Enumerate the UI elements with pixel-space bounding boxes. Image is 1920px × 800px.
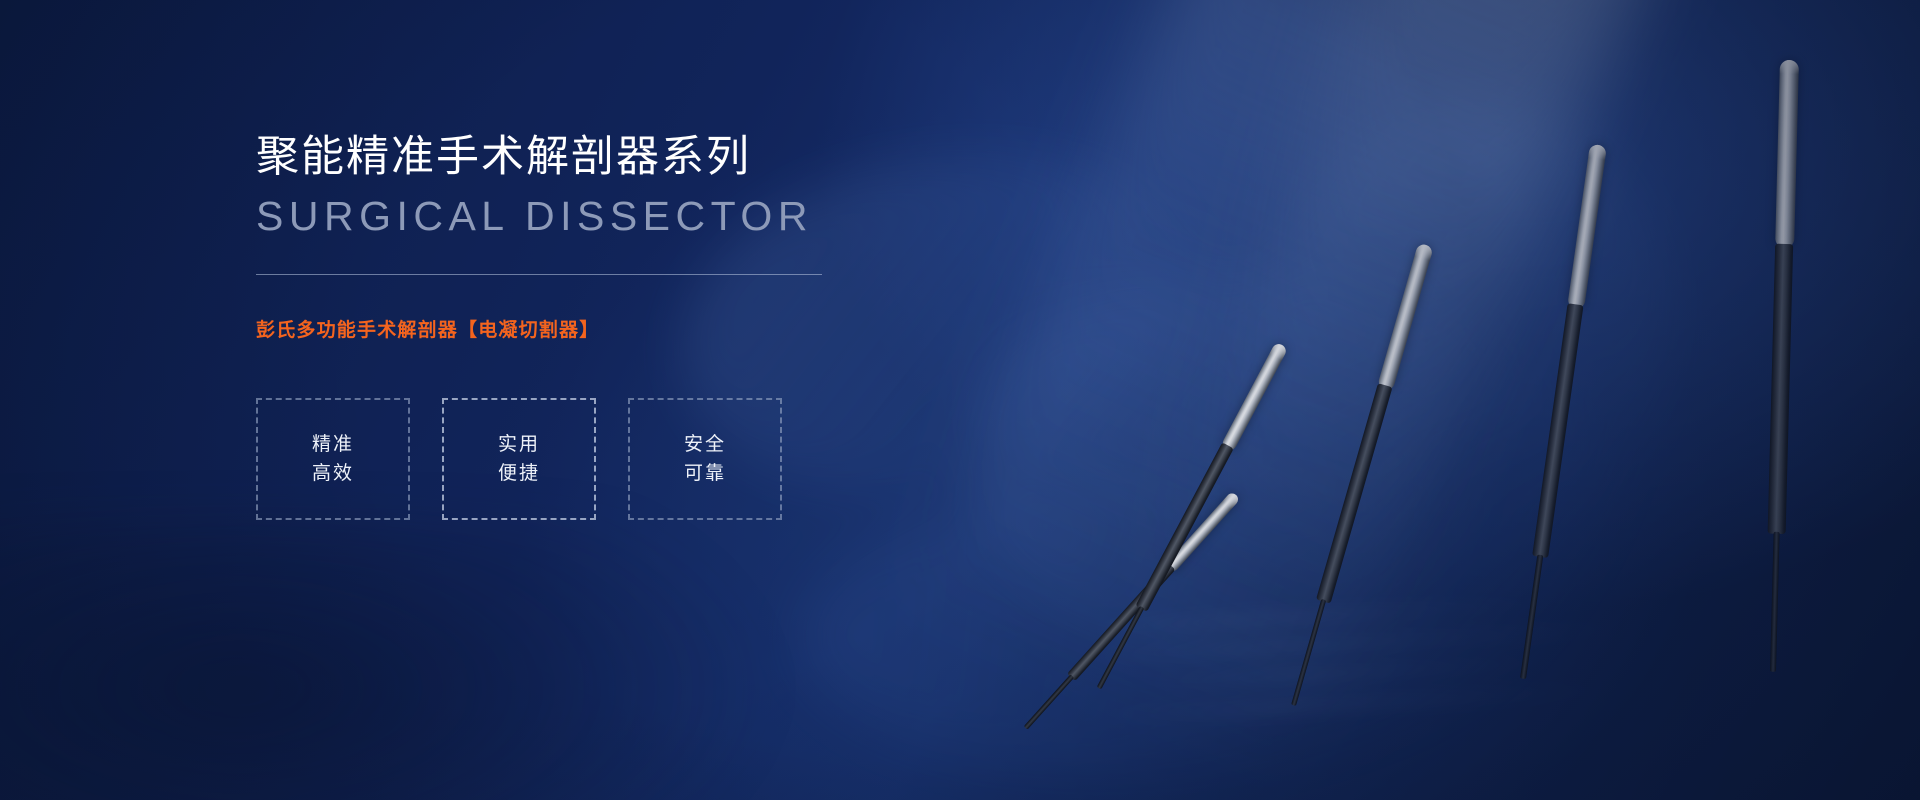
hero-banner: 聚能精准手术解剖器系列 SURGICAL DISSECTOR 彭氏多功能手术解剖… (0, 0, 1920, 800)
feature-label-line2: 高效 (312, 464, 354, 483)
feature-box-safety[interactable]: 安全 可靠 (628, 398, 782, 520)
feature-label-line1: 安全 (684, 435, 726, 454)
feature-box-practical[interactable]: 实用 便捷 (442, 398, 596, 520)
banner-content: 聚能精准手术解剖器系列 SURGICAL DISSECTOR 彭氏多功能手术解剖… (256, 132, 876, 520)
feature-label-line2: 便捷 (498, 464, 540, 483)
banner-tagline: 彭氏多功能手术解剖器【电凝切割器】 (256, 315, 876, 342)
feature-label-line1: 精准 (312, 435, 354, 454)
divider-rule (256, 274, 822, 275)
feature-box-precision[interactable]: 精准 高效 (256, 398, 410, 520)
feature-box-group: 精准 高效 实用 便捷 安全 可靠 (256, 398, 876, 520)
feature-label-line1: 实用 (498, 435, 540, 454)
banner-headline: 聚能精准手术解剖器系列 (256, 132, 876, 183)
banner-subheadline: SURGICAL DISSECTOR (256, 193, 876, 240)
feature-label-line2: 可靠 (684, 464, 726, 483)
